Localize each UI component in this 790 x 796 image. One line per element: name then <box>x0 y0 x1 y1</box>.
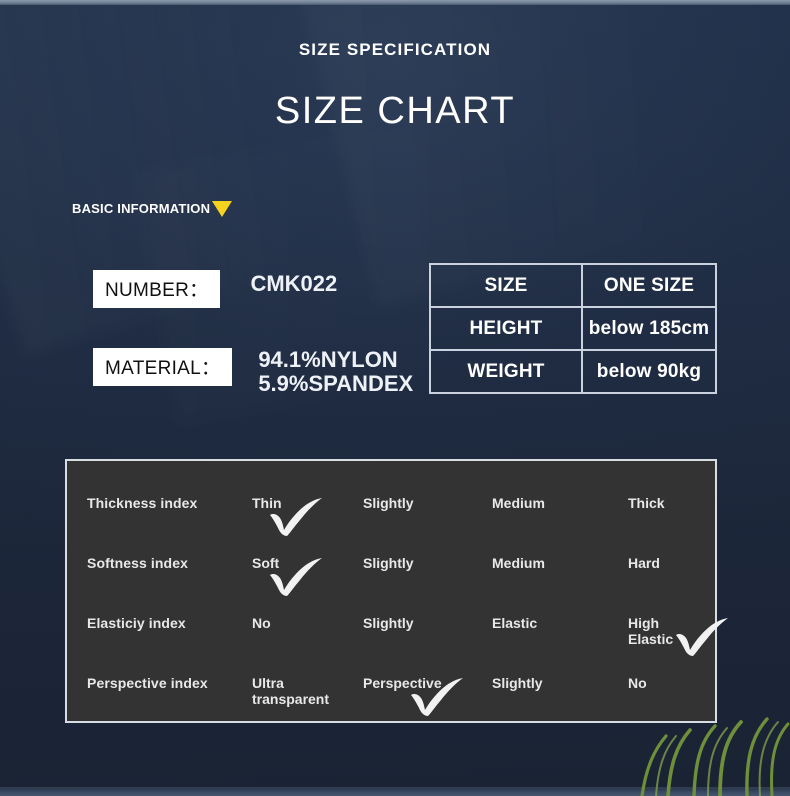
index-option-label: Soft <box>252 555 279 571</box>
number-value: CMK022 <box>250 270 337 296</box>
index-option[interactable]: Thin <box>252 495 282 511</box>
index-option[interactable]: Slightly <box>363 555 414 571</box>
index-row: Softness indexSoftSlightlyMediumHard <box>67 541 715 601</box>
table-row: HEIGHT below 185cm <box>430 307 716 350</box>
index-option[interactable]: Medium <box>492 495 545 511</box>
top-edge-strip <box>0 0 790 5</box>
index-option-label: Medium <box>492 495 545 511</box>
basic-information-label: BASIC INFORMATION <box>72 201 210 216</box>
index-option[interactable]: Elastic <box>492 615 537 631</box>
index-option-label: High Elastic <box>628 615 673 647</box>
index-row-label: Softness index <box>87 555 257 571</box>
index-option-label: No <box>628 675 647 691</box>
index-row: Thickness indexThinSlightlyMediumThick <box>67 481 715 541</box>
index-option-label: Perspective <box>363 675 442 691</box>
check-mark-icon <box>672 617 730 657</box>
material-label: MATERIAL： <box>93 348 232 386</box>
index-option[interactable]: Slightly <box>363 615 414 631</box>
index-option[interactable]: High Elastic <box>628 615 673 647</box>
index-row: Elasticiy indexNoSlightlyElasticHigh Ela… <box>67 601 715 661</box>
index-option[interactable]: Medium <box>492 555 545 571</box>
size-table-value: below 185cm <box>582 307 716 350</box>
index-option[interactable]: Slightly <box>492 675 543 691</box>
size-table-key: WEIGHT <box>430 350 582 393</box>
index-option[interactable]: Thick <box>628 495 665 511</box>
index-option[interactable]: No <box>628 675 647 691</box>
index-option-label: No <box>252 615 271 631</box>
index-row-label: Thickness index <box>87 495 257 511</box>
size-table-value: ONE SIZE <box>582 264 716 307</box>
index-option-label: Ultra transparent <box>252 675 329 707</box>
size-table-value: below 90kg <box>582 350 716 393</box>
table-row: SIZE ONE SIZE <box>430 264 716 307</box>
number-label: NUMBER： <box>93 270 220 308</box>
spec-row-material: MATERIAL： 94.1%NYLON 5.9%SPANDEX <box>93 348 413 396</box>
index-option-label: Slightly <box>363 615 414 631</box>
spec-row-number: NUMBER： CMK022 <box>93 270 337 308</box>
size-chart-poster: SIZE SPECIFICATION SIZE CHART BASIC INFO… <box>0 0 790 796</box>
index-row: Perspective indexUltra transparentPerspe… <box>67 661 715 721</box>
index-option[interactable]: Slightly <box>363 495 414 511</box>
index-option-label: Thin <box>252 495 282 511</box>
index-option[interactable]: Soft <box>252 555 279 571</box>
index-option-label: Elastic <box>492 615 537 631</box>
size-table-key: SIZE <box>430 264 582 307</box>
index-row-label: Elasticiy index <box>87 615 257 631</box>
index-option[interactable]: Ultra transparent <box>252 675 329 707</box>
table-row: WEIGHT below 90kg <box>430 350 716 393</box>
index-panel: Thickness indexThinSlightlyMediumThickSo… <box>65 459 717 723</box>
page-title: SIZE CHART <box>0 90 790 133</box>
size-table-body: SIZE ONE SIZE HEIGHT below 185cm WEIGHT … <box>430 264 716 393</box>
material-value: 94.1%NYLON 5.9%SPANDEX <box>258 348 413 396</box>
index-option-label: Slightly <box>363 495 414 511</box>
triangle-down-icon <box>212 201 232 217</box>
size-table: SIZE ONE SIZE HEIGHT below 185cm WEIGHT … <box>429 263 717 394</box>
index-option-label: Medium <box>492 555 545 571</box>
basic-information-heading: BASIC INFORMATION <box>72 199 232 217</box>
index-option[interactable]: Hard <box>628 555 660 571</box>
index-option-label: Slightly <box>363 555 414 571</box>
index-option[interactable]: Perspective <box>363 675 442 691</box>
size-table-key: HEIGHT <box>430 307 582 350</box>
index-option-label: Thick <box>628 495 665 511</box>
index-option-label: Hard <box>628 555 660 571</box>
index-option-label: Slightly <box>492 675 543 691</box>
index-option[interactable]: No <box>252 615 271 631</box>
page-kicker: SIZE SPECIFICATION <box>0 40 790 60</box>
index-row-label: Perspective index <box>87 675 257 691</box>
bottom-edge-strip <box>0 789 790 796</box>
